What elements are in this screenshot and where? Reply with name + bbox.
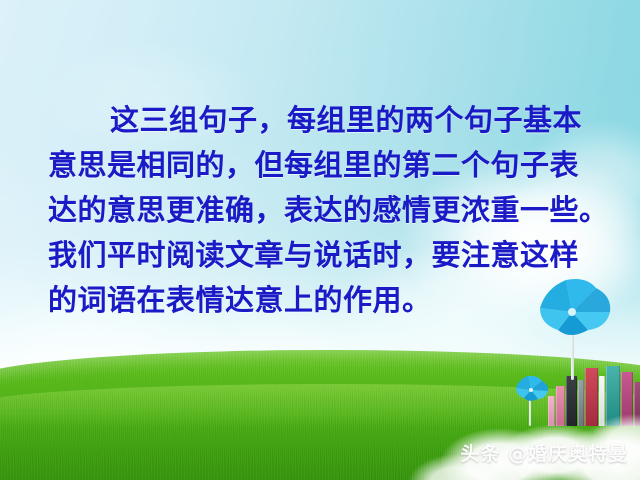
body-text-line-2: 意思是相同的，但每组里的第二个句子表	[48, 143, 593, 188]
body-text-line-5: 的词语在表情达意上的作用。	[48, 278, 593, 323]
body-text-line-4: 我们平时阅读文章与说话时，要注意这样	[48, 233, 593, 278]
pinwheel-small-icon	[512, 374, 550, 404]
book-pink	[556, 386, 565, 426]
slide-body-text: 这三组句子，每组里的两个句子基本 意思是相同的，但每组里的第二个句子表 达的意思…	[48, 98, 593, 323]
book-white	[599, 376, 605, 426]
body-text-line-3: 达的意思更准确，表达的感情更浓重一些。	[48, 188, 593, 233]
slide-canvas: 这三组句子，每组里的两个句子基本 意思是相同的，但每组里的第二个句子表 达的意思…	[0, 0, 640, 480]
book-dark	[566, 376, 577, 426]
body-text-line-1: 这三组句子，每组里的两个句子基本	[48, 98, 593, 143]
book-grey	[578, 380, 584, 426]
book-red	[585, 368, 598, 426]
watermark-label: 头条 @婚庆奥特曼	[460, 439, 628, 466]
